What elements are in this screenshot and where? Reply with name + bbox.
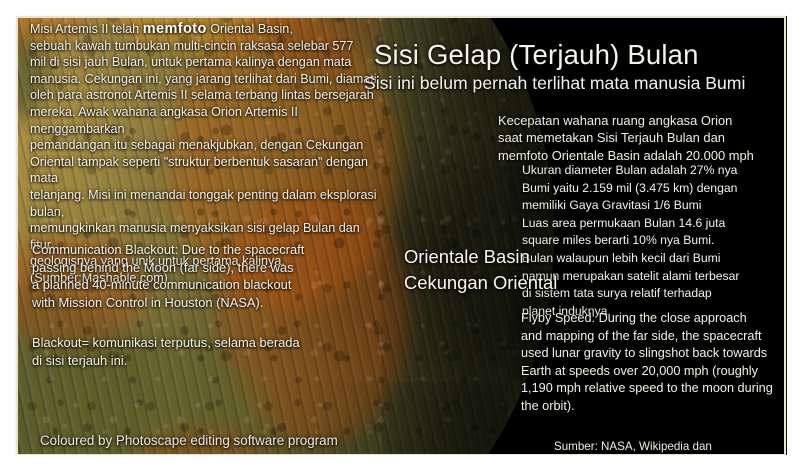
main-paragraph-bold-word: memfoto — [143, 21, 207, 37]
orientale-basin-label: Orientale BasinCekungan Oriental — [404, 244, 624, 296]
perforation-edge-top — [0, 0, 801, 14]
source-credit: Sumber: NASA, Wikipedia dan Mashable.com — [554, 440, 786, 456]
page-subtitle: Sisi ini belum pernah terlihat mata manu… — [364, 72, 786, 94]
orion-speed-note: Kecepatan wahana ruang angkasa Orion saa… — [498, 112, 786, 164]
perforation-teeth — [787, 0, 798, 469]
perforation-teeth — [3, 0, 14, 469]
editing-credit: Coloured by Photoscape editing software … — [40, 433, 338, 448]
postage-stamp: Misi Artemis II telah memfoto Oriental B… — [0, 0, 801, 469]
perforation-edge-right — [787, 0, 801, 469]
perforation-teeth — [0, 3, 801, 14]
main-paragraph-prefix: Misi Artemis II telah — [30, 22, 143, 36]
artwork-canvas: Misi Artemis II telah memfoto Oriental B… — [16, 16, 786, 456]
moon-facts-block: Ukuran diameter Bulan adalah 27% nya Bum… — [522, 162, 786, 320]
flyby-speed-block: Flyby Speed: During the close approach a… — [521, 310, 786, 416]
basin-label-id: Cekungan Oriental — [404, 272, 557, 293]
communication-blackout-en: Communication Blackout: Due to the space… — [32, 241, 382, 311]
basin-label-en: Orientale Basin — [404, 246, 530, 267]
communication-blackout-id: Blackout= komunikasi terputus, selama be… — [32, 334, 382, 369]
perforation-edge-left — [0, 0, 14, 469]
page-title: Sisi Gelap (Terjauh) Bulan — [374, 38, 786, 72]
